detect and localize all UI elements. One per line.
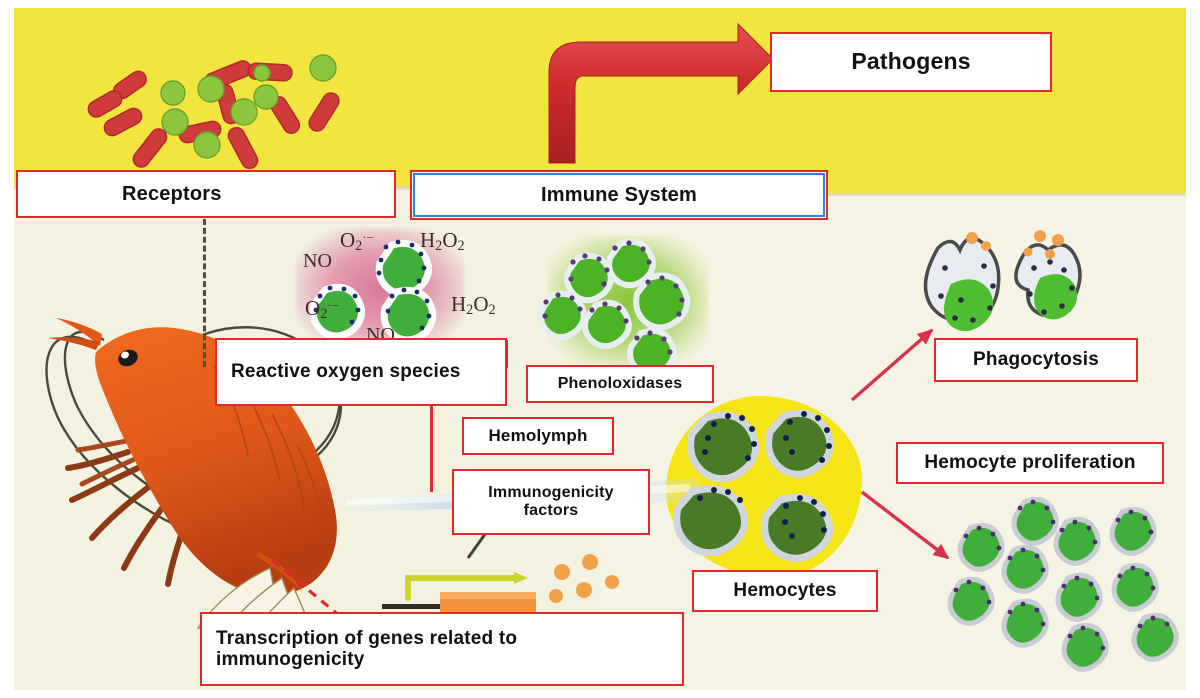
yellow-band-left [14,8,704,188]
label-receptors[interactable]: Receptors [16,170,396,218]
label-reactive-oxygen-species[interactable]: Reactive oxygen species [215,338,507,406]
label-hemocyte-proliferation[interactable]: Hemocyte proliferation [896,442,1164,484]
diagram-canvas: O2·− H2O2 NO O2·− H2O2 NO Receptors Immu… [0,0,1200,698]
nitric-oxide-label-top: NO [303,250,332,273]
hydrogen-peroxide-label-bottom: H2O2 [451,292,496,319]
receptor-dashed-connector [203,219,206,367]
margin-right [1186,0,1200,698]
superoxide-label-top: O2·− [340,228,374,255]
label-hemocytes[interactable]: Hemocytes [692,570,878,612]
transcription-line-2: immunogenicity [216,649,682,670]
phenoloxidase-cloud [548,236,708,366]
label-phenoloxidases[interactable]: Phenoloxidases [526,365,714,403]
label-immunogenicity-factors[interactable]: Immunogenicity factors [452,469,650,535]
label-immune-system[interactable]: Immune System [410,170,828,220]
superoxide-label-bottom: O2·− [305,296,339,323]
label-pathogens[interactable]: Pathogens [770,32,1052,92]
margin-left [0,0,14,698]
hemocyte-blob [666,396,862,578]
label-hemolymph[interactable]: Hemolymph [462,417,614,455]
ros-connector [430,404,433,492]
immunogenicity-factors-line-2: factors [454,502,648,520]
immunogenicity-factors-line-1: Immunogenicity [454,484,648,502]
label-transcription-of-genes[interactable]: Transcription of genes related to immuno… [200,612,684,686]
hydrogen-peroxide-label-top: H2O2 [420,228,465,255]
margin-top [0,0,1200,8]
transcription-line-1: Transcription of genes related to [216,628,682,649]
margin-bottom [0,690,1200,698]
label-phagocytosis[interactable]: Phagocytosis [934,338,1138,382]
